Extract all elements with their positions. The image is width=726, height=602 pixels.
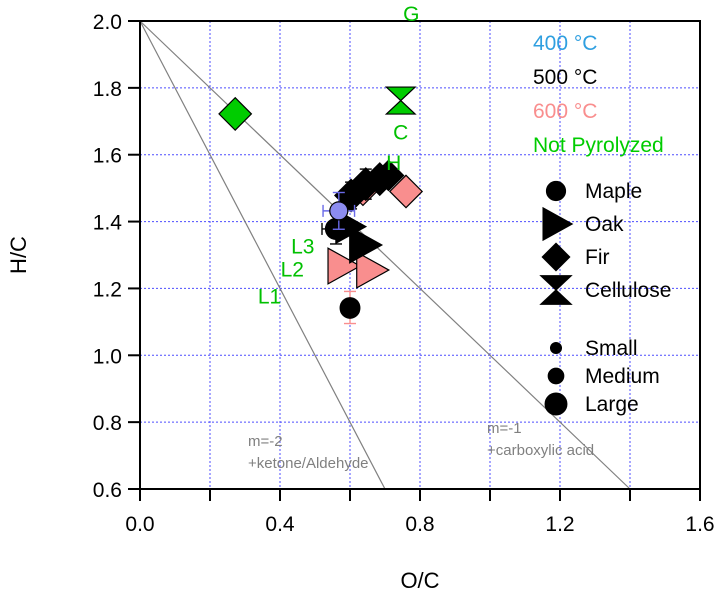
data-point-circle (340, 299, 360, 319)
legend-size-marker-medium (548, 368, 564, 384)
legend-temperature-0: 400 °C (533, 32, 597, 55)
annotation-m2-line2: +ketone/Aldehyde (248, 455, 369, 472)
legend-size-small: Small (585, 337, 638, 360)
legend-shape-cellulose: Cellulose (585, 279, 671, 302)
y-tick-label: 1.0 (93, 345, 122, 368)
data-point-triangle-right (357, 252, 389, 288)
series-not-pyrolyzed (219, 87, 415, 130)
grid-layer (140, 21, 700, 489)
annotations-layer: m=-2+ketone/Aldehydem=-1+carboxylic acid (248, 420, 594, 472)
point-label-h: H (386, 152, 401, 175)
y-tick-label: 1.4 (93, 212, 123, 235)
point-label-l1: L1 (258, 285, 281, 308)
x-tick-label: 0.0 (125, 513, 154, 536)
reference-line-slope--2 (140, 21, 385, 489)
legend-layer: 400 °C500 °C600 °CNot PyrolyzedMapleOakF… (533, 32, 671, 416)
annotation-m1-line2: +carboxylic acid (487, 442, 594, 459)
legend-shape-oak: Oak (585, 213, 624, 236)
legend-size-medium: Medium (585, 365, 660, 388)
y-tick-label: 1.6 (93, 145, 122, 168)
legend-size-large: Large (585, 393, 639, 416)
chart-svg: 0.00.40.81.21.60.60.81.01.21.41.61.82.0O… (0, 0, 726, 602)
x-tick-label: 1.2 (545, 513, 574, 536)
legend-marker-diamond (542, 243, 569, 270)
data-point-circle (330, 202, 348, 220)
legend-size-marker-small (551, 343, 562, 354)
series-500--c (322, 160, 404, 318)
legend-shape-maple: Maple (585, 180, 642, 203)
legend-size-marker-large (545, 393, 567, 415)
axes-layer: 0.00.40.81.21.60.60.81.01.21.41.61.82.0O… (6, 11, 715, 593)
y-tick-label: 0.8 (93, 412, 122, 435)
annotation-m2-line1: m=-2 (248, 433, 283, 450)
point-label-c: C (393, 122, 408, 145)
legend-marker-triangle-right (543, 208, 572, 240)
legend-shape-fir: Fir (585, 246, 610, 269)
legend-temperature-2: 600 °C (533, 100, 597, 123)
x-axis-title: O/C (400, 568, 439, 593)
y-tick-label: 1.8 (93, 78, 122, 101)
legend-marker-circle (547, 182, 566, 201)
y-axis-title: H/C (6, 236, 31, 274)
point-label-l3: L3 (291, 235, 314, 258)
legend-temperature-1: 500 °C (533, 66, 597, 89)
y-tick-label: 2.0 (93, 11, 122, 34)
point-label-l2: L2 (281, 259, 304, 282)
x-tick-label: 0.4 (265, 513, 295, 536)
legend-temperature-3: Not Pyrolyzed (533, 134, 664, 157)
data-point-diamond (219, 98, 251, 130)
annotation-m1-line1: m=-1 (487, 420, 522, 437)
data-point-bowtie (386, 87, 415, 114)
x-tick-label: 0.8 (405, 513, 434, 536)
van-krevelen-chart: 0.00.40.81.21.60.60.81.01.21.41.61.82.0O… (0, 0, 726, 602)
x-tick-label: 1.6 (685, 513, 714, 536)
y-tick-label: 1.2 (93, 278, 122, 301)
legend-marker-bowtie (541, 276, 571, 305)
point-label-g: G (403, 3, 419, 26)
y-tick-label: 0.6 (93, 479, 122, 502)
